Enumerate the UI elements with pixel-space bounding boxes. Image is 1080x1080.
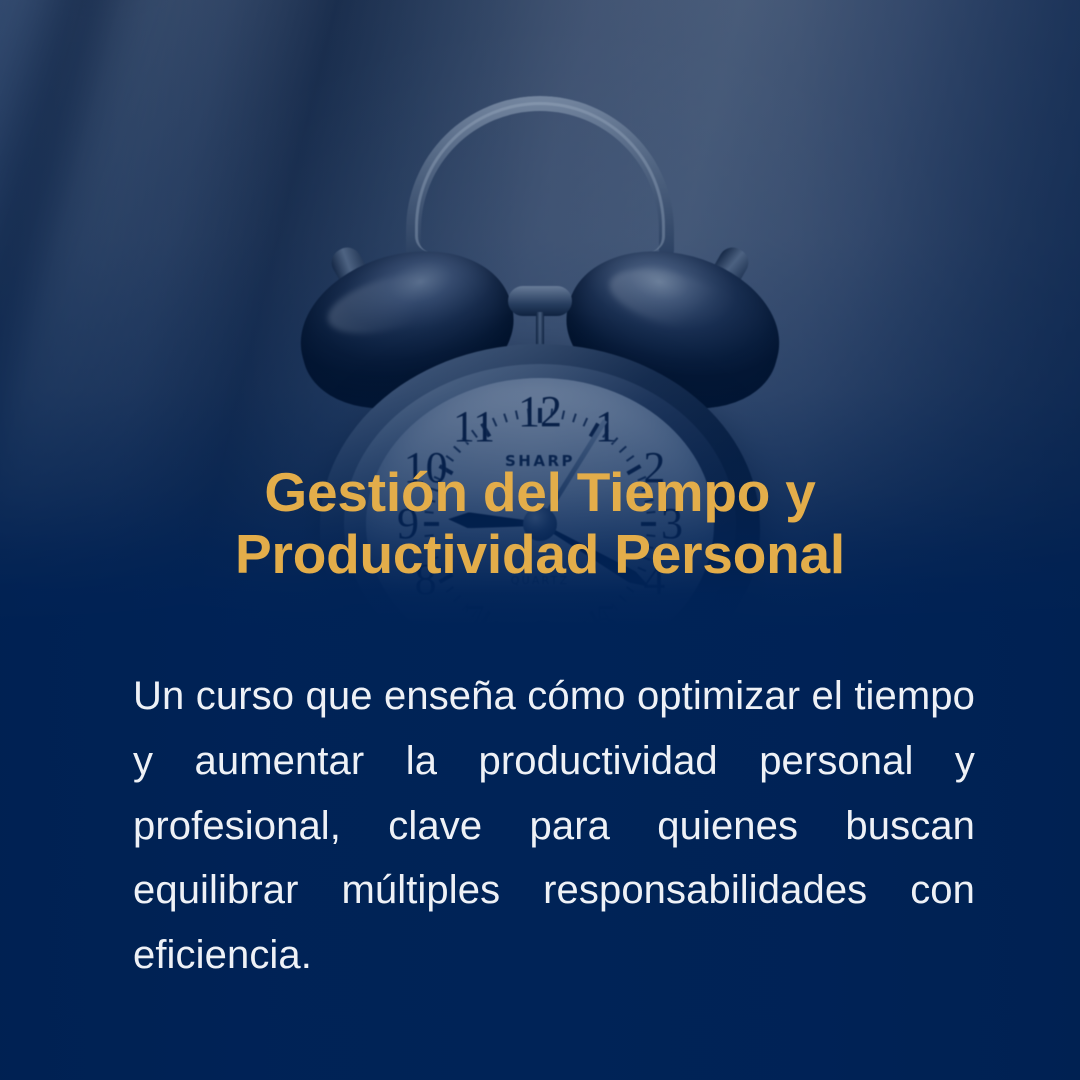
promo-card: SHARP QUARTZ 121234567891011 Gestión del… [0,0,1080,1080]
course-description: Un curso que enseña cómo optimizar el ti… [133,664,975,1053]
course-title-line-2: Productividad Personal [60,523,1020,585]
content-layer: Gestión del Tiempo y Productividad Perso… [0,0,1080,1080]
course-title: Gestión del Tiempo y Productividad Perso… [0,461,1080,585]
course-title-line-1: Gestión del Tiempo y [60,461,1020,523]
